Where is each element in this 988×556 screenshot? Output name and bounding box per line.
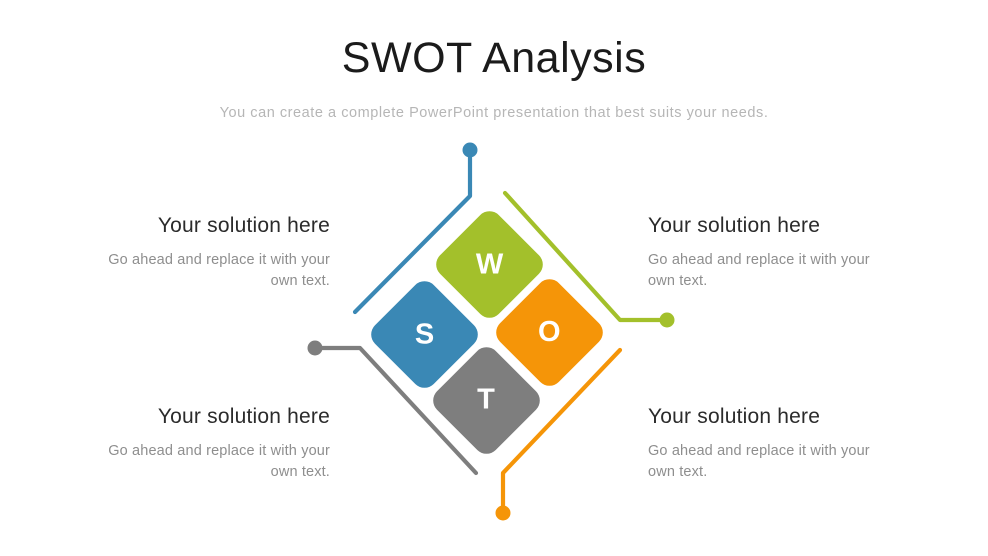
caption-body-strengths: Go ahead and replace it with your own te… bbox=[100, 250, 330, 291]
caption-title-weaknesses: Your solution here bbox=[648, 213, 878, 239]
caption-block-threats: Your solution here Go ahead and replace … bbox=[100, 404, 330, 482]
caption-body-weaknesses: Go ahead and replace it with your own te… bbox=[648, 250, 878, 291]
opportunities-connector-dot bbox=[496, 506, 511, 521]
caption-body-threats: Go ahead and replace it with your own te… bbox=[100, 441, 330, 482]
swot-tile-letter-w: W bbox=[476, 250, 504, 279]
strengths-connector-dot bbox=[463, 143, 478, 158]
caption-title-strengths: Your solution here bbox=[100, 213, 330, 239]
caption-block-opportunities: Your solution here Go ahead and replace … bbox=[648, 404, 878, 482]
swot-tile-letter-s: S bbox=[415, 320, 435, 349]
caption-block-weaknesses: Your solution here Go ahead and replace … bbox=[648, 213, 878, 291]
threats-connector-dot bbox=[308, 341, 323, 356]
caption-body-opportunities: Go ahead and replace it with your own te… bbox=[648, 441, 878, 482]
caption-title-threats: Your solution here bbox=[100, 404, 330, 430]
swot-tile-letter-o: O bbox=[538, 318, 561, 347]
caption-block-strengths: Your solution here Go ahead and replace … bbox=[100, 213, 330, 291]
swot-tile-letter-t: T bbox=[477, 386, 495, 415]
swot-diagram: W S O T Your solution here Go ahead and … bbox=[0, 0, 988, 556]
caption-title-opportunities: Your solution here bbox=[648, 404, 878, 430]
weaknesses-connector-dot bbox=[660, 313, 675, 328]
